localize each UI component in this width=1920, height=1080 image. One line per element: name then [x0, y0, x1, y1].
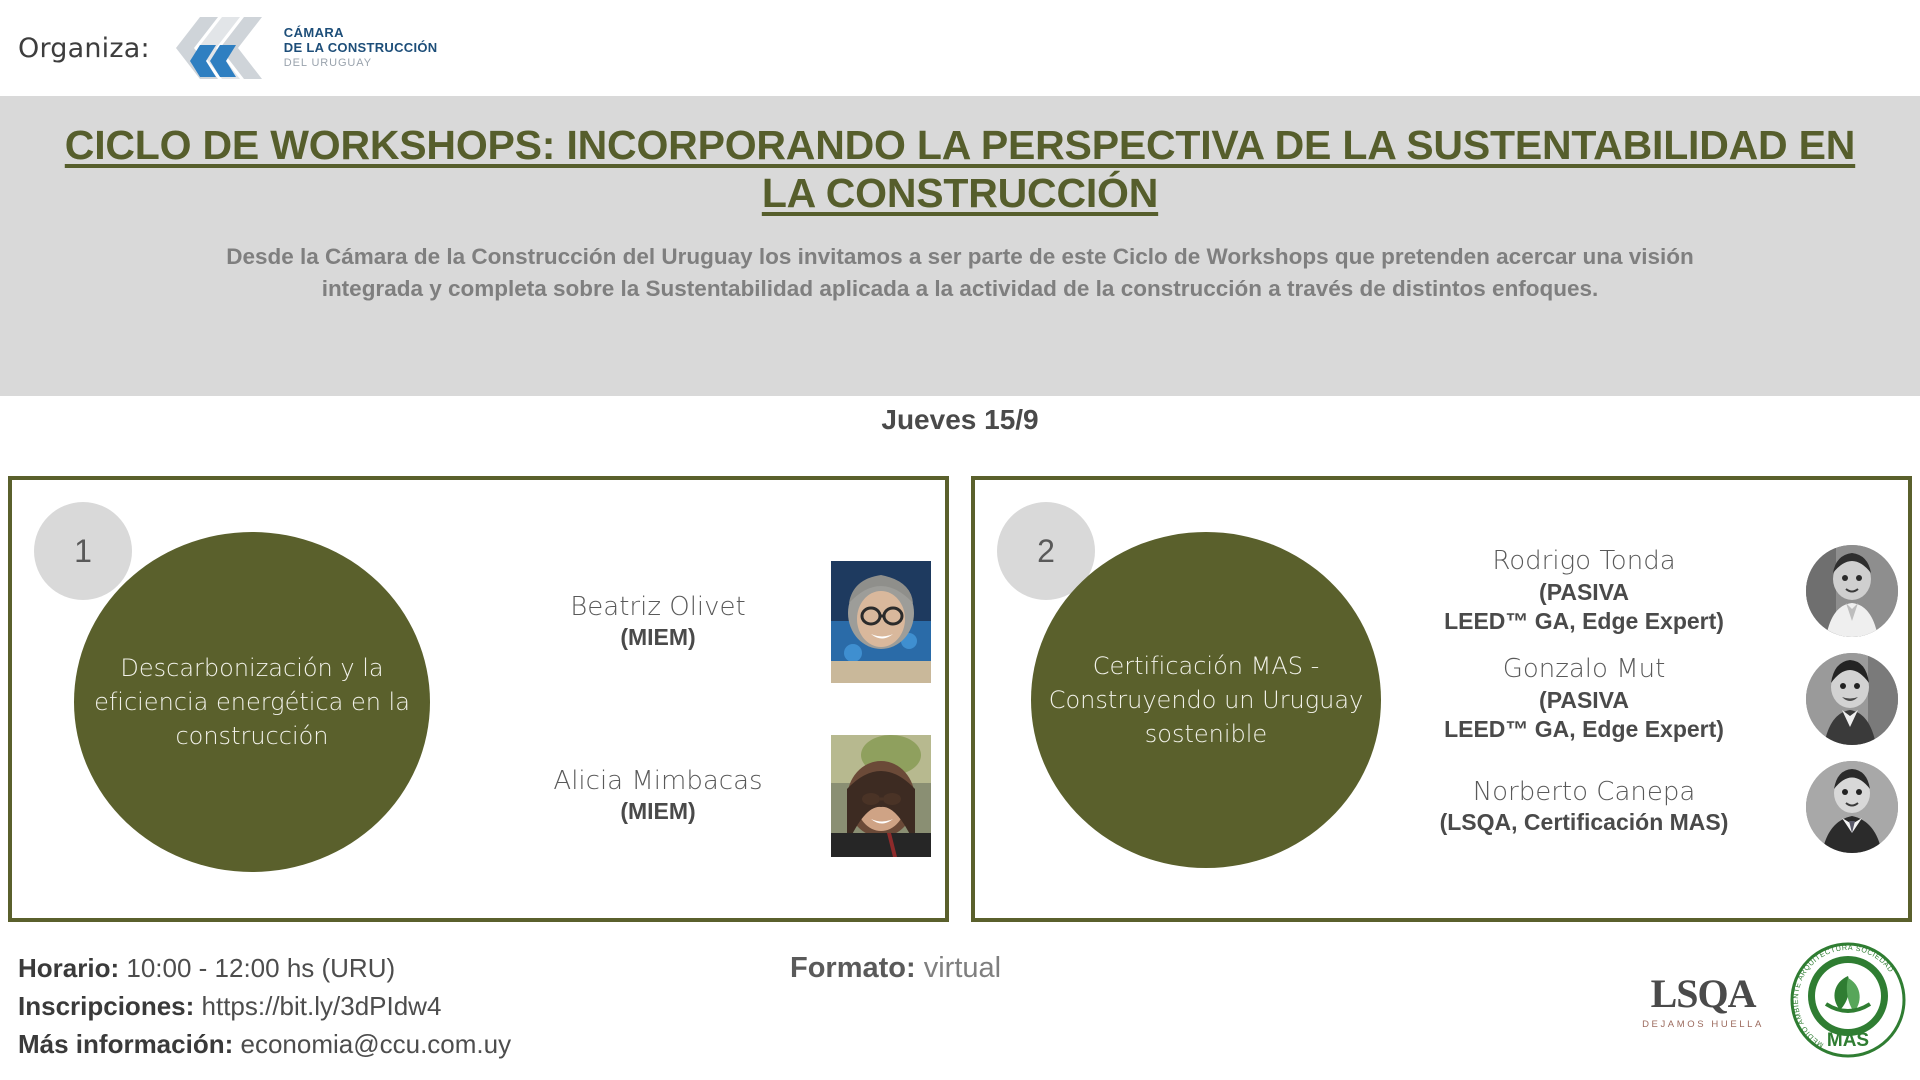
avatar-illustration	[1806, 761, 1898, 853]
footer-inscripciones-label: Inscripciones:	[18, 991, 194, 1021]
ccu-chevron-icon	[172, 11, 272, 85]
speaker-item: Beatriz Olivet (MIEM)	[501, 561, 931, 683]
footer-horario-line: Horario: 10:00 - 12:00 hs (URU)	[18, 950, 511, 988]
speaker-text: Alicia Mimbacas (MIEM)	[501, 766, 815, 827]
footer-info-line: Más información: economia@ccu.com.uy	[18, 1026, 511, 1064]
camara-construccion-uruguay-logo: CÁMARA DE LA CONSTRUCCIÓN DEL URUGUAY	[172, 11, 438, 85]
title-banner: CICLO DE WORKSHOPS: INCORPORANDO LA PERS…	[0, 96, 1920, 396]
workshop-topic-text: Certificación MAS - Construyendo un Urug…	[1031, 649, 1381, 751]
speaker-item: Alicia Mimbacas (MIEM)	[501, 735, 931, 857]
organiza-header: Organiza: CÁMARA DE LA CONSTRUCCIÓN DEL …	[0, 0, 1920, 96]
mas-logo: MAS MEDIO AMBIENTE ARQUITECTURA SOCIEDAD	[1790, 942, 1906, 1058]
speaker-name: Alicia Mimbacas	[501, 766, 815, 798]
page-title: CICLO DE WORKSHOPS: INCORPORANDO LA PERS…	[0, 96, 1920, 217]
mas-seal-icon: MAS MEDIO AMBIENTE ARQUITECTURA SOCIEDAD	[1790, 942, 1906, 1058]
speaker-org: (MIEM)	[501, 797, 815, 826]
speaker-name: Gonzalo Mut	[1378, 654, 1790, 686]
speaker-photo-beatriz-olivet	[831, 561, 931, 683]
speaker-text: Norberto Canepa (LSQA, Certificación MAS…	[1378, 777, 1790, 838]
footer-formato-value: virtual	[924, 952, 1001, 984]
footer-inscripciones-line: Inscripciones: https://bit.ly/3dPIdw4	[18, 988, 511, 1026]
footer: Horario: 10:00 - 12:00 hs (URU) Inscripc…	[0, 932, 1920, 1080]
speaker-name: Norberto Canepa	[1378, 777, 1790, 809]
workshop-cards: 1 Descarbonización y la eficiencia energ…	[0, 476, 1920, 922]
banner-subtitle: Desde la Cámara de la Construcción del U…	[0, 217, 1920, 305]
avatar-illustration	[1806, 545, 1898, 637]
workshop-topic-blob: Descarbonización y la eficiencia energét…	[74, 532, 430, 872]
speaker-item: Gonzalo Mut (PASIVA LEED™ GA, Edge Exper…	[1378, 653, 1898, 745]
lsqa-logo: LSQA DEJAMOS HUELLA	[1642, 970, 1764, 1030]
speaker-list: Rodrigo Tonda (PASIVA LEED™ GA, Edge Exp…	[1378, 480, 1898, 918]
workshop-number-badge: 1	[34, 502, 132, 600]
avatar-illustration	[1806, 653, 1898, 745]
organiza-label: Organiza:	[18, 33, 150, 64]
speaker-text: Gonzalo Mut (PASIVA LEED™ GA, Edge Exper…	[1378, 654, 1790, 744]
event-date: Jueves 15/9	[0, 404, 1920, 436]
footer-formato-line: Formato: virtual	[790, 952, 1001, 985]
footer-inscripciones-link[interactable]: https://bit.ly/3dPIdw4	[202, 991, 442, 1021]
speaker-name: Beatriz Olivet	[501, 592, 815, 624]
speaker-org: (LSQA, Certificación MAS)	[1378, 808, 1790, 837]
speaker-org: (PASIVA LEED™ GA, Edge Expert)	[1378, 686, 1790, 744]
lsqa-logo-text: LSQA	[1651, 970, 1756, 1017]
speaker-photo-alicia-mimbacas	[831, 735, 931, 857]
ccu-logo-line2: DE LA CONSTRUCCIÓN	[284, 41, 438, 56]
footer-logos: LSQA DEJAMOS HUELLA MAS MEDIO AMBIENTE A…	[1642, 942, 1906, 1058]
ccu-logo-text: CÁMARA DE LA CONSTRUCCIÓN DEL URUGUAY	[284, 26, 438, 69]
speaker-photo-gonzalo-mut	[1806, 653, 1898, 745]
svg-text:MAS: MAS	[1827, 1030, 1869, 1051]
speaker-name: Rodrigo Tonda	[1378, 546, 1790, 578]
speaker-item: Rodrigo Tonda (PASIVA LEED™ GA, Edge Exp…	[1378, 545, 1898, 637]
avatar-illustration	[831, 735, 931, 857]
footer-formato-label: Formato:	[790, 952, 916, 984]
speaker-photo-rodrigo-tonda	[1806, 545, 1898, 637]
footer-info-label: Más información:	[18, 1029, 233, 1059]
footer-horario-value: 10:00 - 12:00 hs (URU)	[126, 953, 395, 983]
footer-horario-label: Horario:	[18, 953, 119, 983]
lsqa-logo-tagline: DEJAMOS HUELLA	[1642, 1019, 1764, 1030]
speaker-org: (PASIVA LEED™ GA, Edge Expert)	[1378, 578, 1790, 636]
workshop-topic-blob: Certificación MAS - Construyendo un Urug…	[1031, 532, 1381, 868]
workshop-card-2[interactable]: 2 Certificación MAS - Construyendo un Ur…	[971, 476, 1912, 922]
workshop-topic-text: Descarbonización y la eficiencia energét…	[74, 651, 430, 753]
speaker-org: (MIEM)	[501, 623, 815, 652]
speaker-item: Norberto Canepa (LSQA, Certificación MAS…	[1378, 761, 1898, 853]
workshop-card-1[interactable]: 1 Descarbonización y la eficiencia energ…	[8, 476, 949, 922]
speaker-text: Beatriz Olivet (MIEM)	[501, 592, 815, 653]
speaker-list: Beatriz Olivet (MIEM)	[501, 480, 931, 922]
poster-page: Organiza: CÁMARA DE LA CONSTRUCCIÓN DEL …	[0, 0, 1920, 1080]
speaker-photo-norberto-canepa	[1806, 761, 1898, 853]
footer-contact-block: Horario: 10:00 - 12:00 hs (URU) Inscripc…	[18, 950, 511, 1064]
footer-info-email[interactable]: economia@ccu.com.uy	[240, 1029, 511, 1059]
avatar-illustration	[831, 561, 931, 683]
speaker-text: Rodrigo Tonda (PASIVA LEED™ GA, Edge Exp…	[1378, 546, 1790, 636]
ccu-logo-line3: DEL URUGUAY	[284, 57, 438, 69]
ccu-logo-line1: CÁMARA	[284, 26, 438, 41]
